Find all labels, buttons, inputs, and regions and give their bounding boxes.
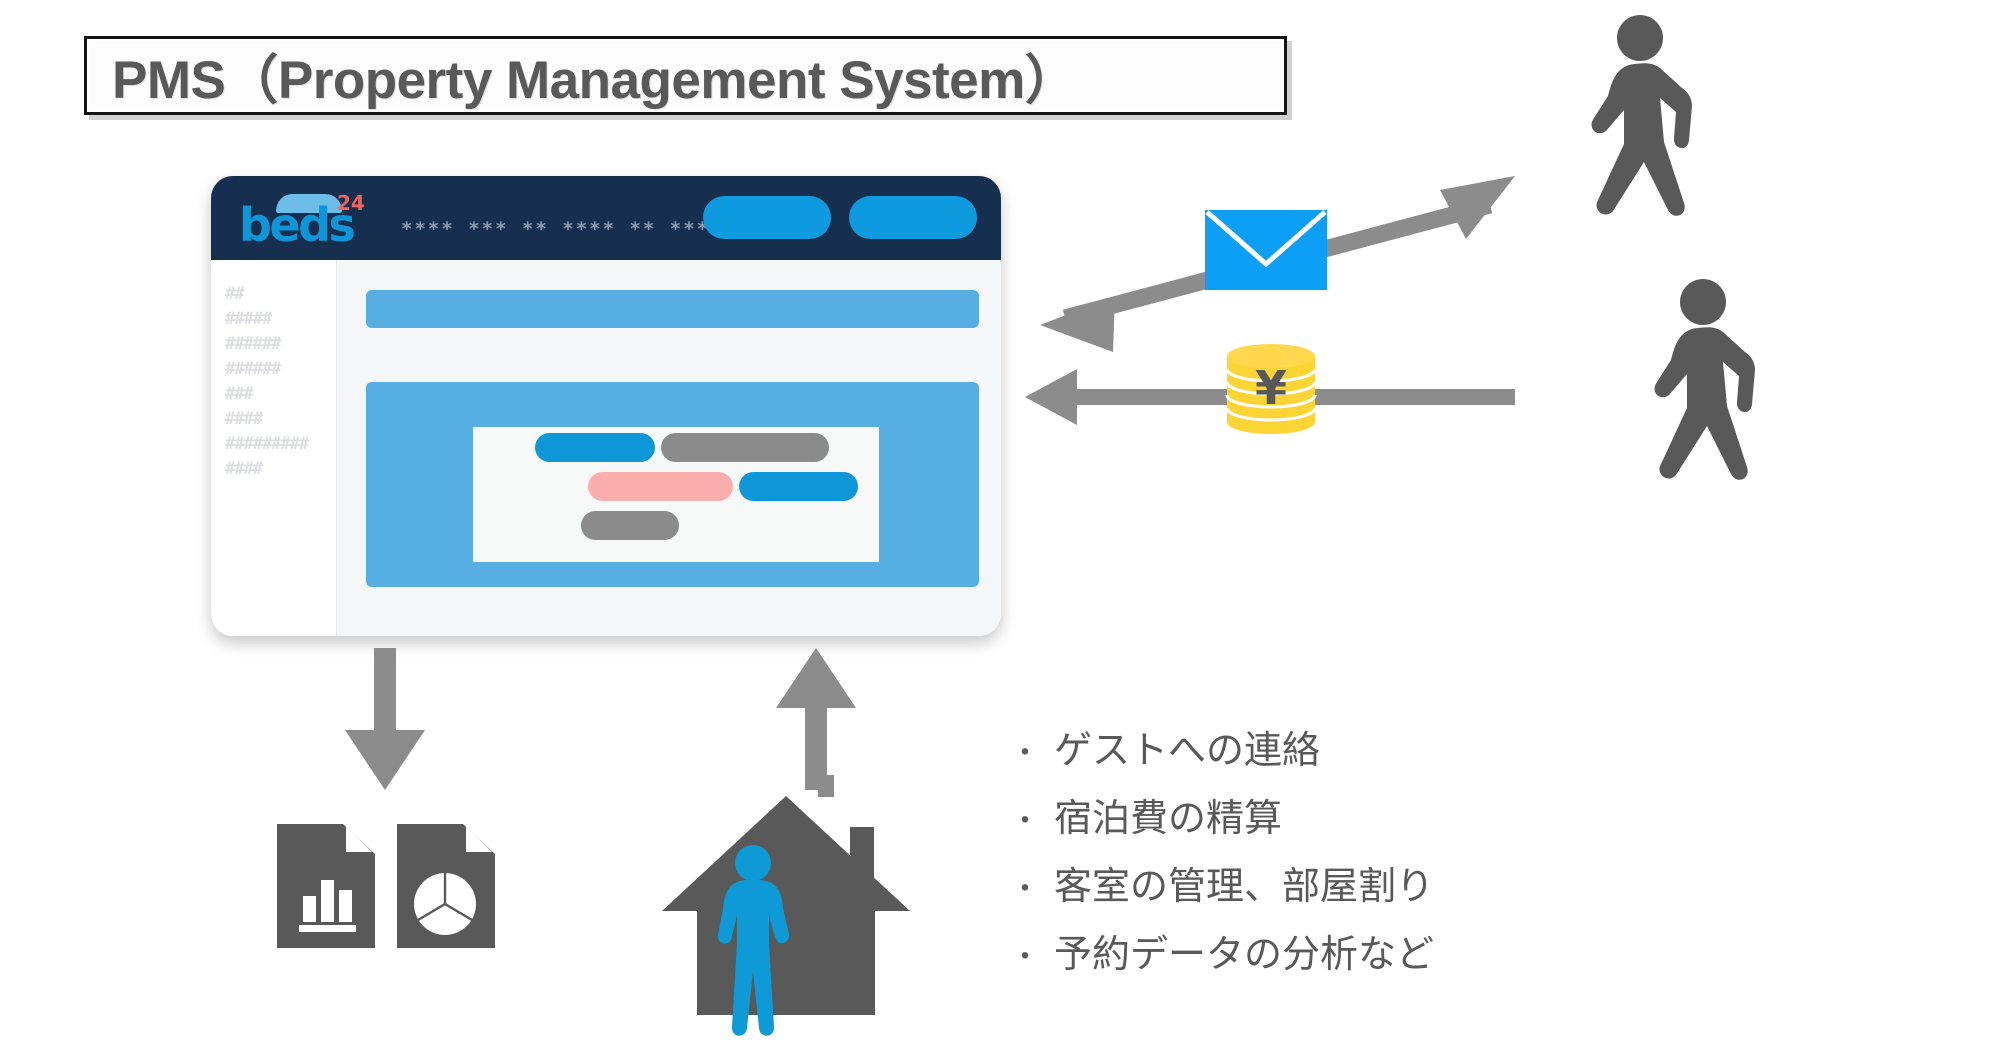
content-toolbar-placeholder[interactable] [366, 290, 979, 328]
app-nav-placeholder[interactable]: **** *** ** **** ** *** [401, 218, 710, 240]
sidebar-item-6[interactable]: ######### [225, 432, 336, 457]
diagram-canvas: PMS（Property Management System） beds 24 … [0, 0, 1999, 1048]
reservation-bar-gray-2[interactable] [581, 511, 679, 540]
app-header-bar: beds 24 **** *** ** **** ** *** [211, 176, 1001, 260]
app-header-actions [703, 196, 977, 239]
document-bar-chart-icon [277, 824, 375, 948]
beds24-logo: beds 24 [239, 189, 359, 247]
list-item-0: ・ ゲストへの連絡 [1010, 728, 1570, 776]
sidebar-item-4[interactable]: ### [225, 382, 336, 407]
bullet-marker-2: ・ [1010, 868, 1040, 912]
report-documents-group [277, 824, 501, 948]
yen-symbol: ¥ [1255, 361, 1287, 415]
app-content-area [337, 260, 1001, 636]
bullet-marker-0: ・ [1010, 732, 1040, 776]
sidebar-item-5[interactable]: #### [225, 407, 336, 432]
sidebar-item-7[interactable]: #### [225, 457, 336, 482]
walking-person-icon-2 [1635, 278, 1795, 513]
bullet-marker-1: ・ [1010, 800, 1040, 844]
reservation-bar-blue-1[interactable] [535, 433, 655, 462]
list-item-label-0: ゲストへの連絡 [1054, 728, 1320, 772]
feature-bullet-list: ・ ゲストへの連絡 ・ 宿泊費の精算 ・ 客室の管理、部屋割り ・ 予約データの… [1010, 728, 1570, 1000]
header-pill-button-2[interactable] [849, 196, 977, 239]
booking-calendar-grid[interactable] [473, 427, 879, 562]
up-arrow-property [776, 648, 856, 790]
list-item-2: ・ 客室の管理、部屋割り [1010, 864, 1570, 912]
page-title-banner: PMS（Property Management System） [84, 36, 1287, 115]
list-item-label-1: 宿泊費の精算 [1054, 796, 1282, 840]
list-item-label-2: 客室の管理、部屋割り [1054, 864, 1434, 908]
list-item-label-3: 予約データの分析など [1054, 932, 1434, 976]
reservation-bar-blue-2[interactable] [739, 472, 858, 501]
sidebar-item-1[interactable]: ##### [225, 307, 336, 332]
sidebar-item-3[interactable]: ###### [225, 357, 336, 382]
property-house-group [652, 775, 912, 1040]
list-item-3: ・ 予約データの分析など [1010, 932, 1570, 980]
house-icon [662, 775, 910, 1015]
page-title: PMS（Property Management System） [112, 38, 1077, 114]
logo-superscript: 24 [337, 191, 365, 215]
reservation-bar-gray-1[interactable] [661, 433, 829, 462]
sidebar-item-0[interactable]: ## [225, 282, 336, 307]
yen-coins-icon: ¥ [1223, 340, 1319, 436]
pms-app-window: beds 24 **** *** ** **** ** *** ## #####… [211, 176, 1001, 636]
app-sidebar: ## ##### ###### ###### ### #### ########… [211, 260, 337, 636]
bullet-marker-3: ・ [1010, 936, 1040, 980]
booking-calendar-panel [366, 382, 979, 587]
document-pie-chart-icon [397, 824, 495, 948]
list-item-1: ・ 宿泊費の精算 [1010, 796, 1570, 844]
header-pill-button-1[interactable] [703, 196, 831, 239]
sidebar-item-2[interactable]: ###### [225, 332, 336, 357]
down-arrow-reports [345, 648, 425, 790]
walking-person-icon-1 [1572, 14, 1732, 249]
envelope-icon [1205, 210, 1327, 290]
reservation-bar-pink-1[interactable] [588, 472, 733, 501]
